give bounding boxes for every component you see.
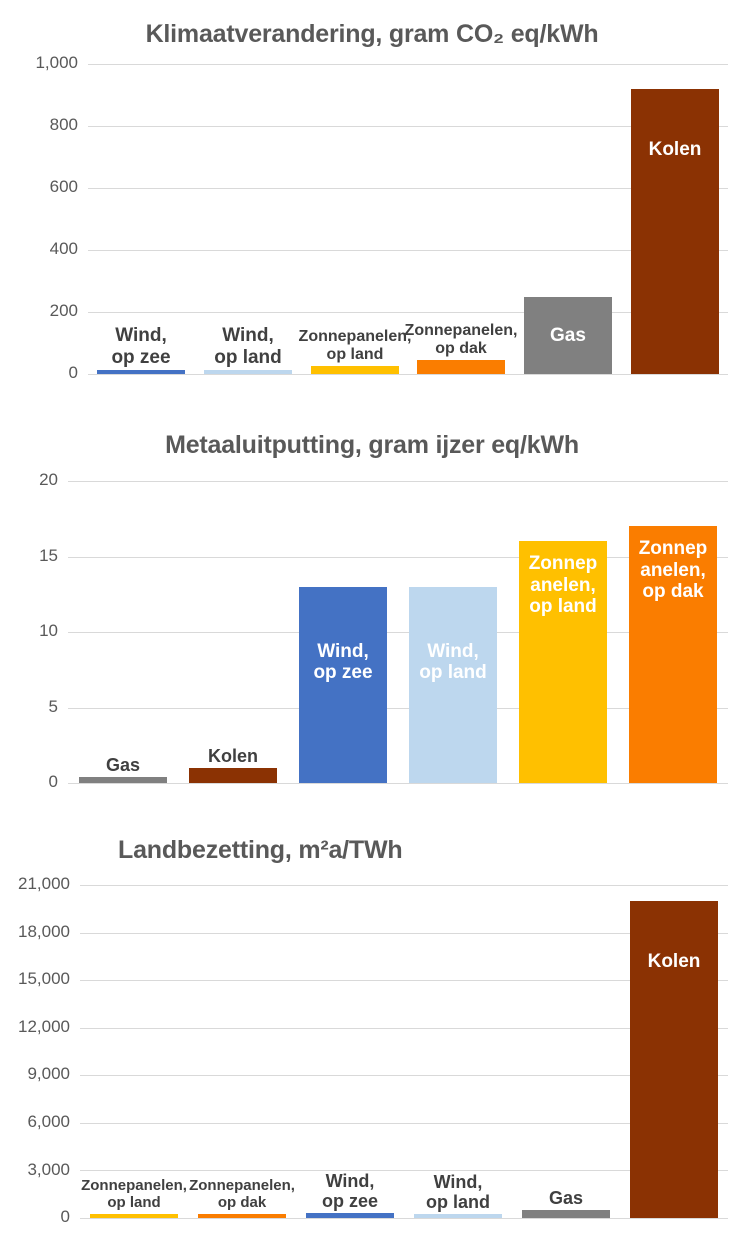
- bar-label-line: op zee: [83, 347, 199, 368]
- y-axis-tick-label: 6,000: [27, 1113, 70, 1130]
- y-axis-tick-label: 20: [39, 471, 58, 488]
- bars-group: GasKolenWind,op zeeWind,op landZonnepane…: [68, 481, 728, 783]
- bar-category-label: Gas: [65, 755, 181, 775]
- y-axis-tick-label: 12,000: [18, 1018, 70, 1035]
- bar-category-label: Gas: [508, 1188, 624, 1208]
- bar-rect: [204, 370, 292, 374]
- bar-label-line: op dak: [184, 1195, 300, 1212]
- bar-label-line: op land: [190, 347, 306, 368]
- y-axis-tick-label: 1,000: [35, 54, 78, 71]
- bar-label-line: Zonnep: [629, 538, 717, 559]
- bar-label-line: Zonnepanelen,: [76, 1178, 192, 1195]
- bar-rect: [90, 1214, 178, 1218]
- y-axis-tick-label: 18,000: [18, 923, 70, 940]
- y-axis-tick-label: 21,000: [18, 875, 70, 892]
- bar-label-line: Wind,: [409, 641, 497, 662]
- y-axis-tick-label: 10: [39, 622, 58, 639]
- bar-item[interactable]: Kolen: [631, 89, 719, 374]
- bar-label-line: op land: [297, 346, 413, 364]
- bar-category-label: Wind,op zee: [83, 325, 199, 368]
- bar-category-label: Gas: [524, 325, 612, 346]
- bar-label-line: anelen,: [519, 575, 607, 596]
- bar-label-line: Wind,: [400, 1172, 516, 1192]
- bar-label-line: Wind,: [292, 1171, 408, 1191]
- bar-rect: [311, 366, 399, 374]
- bar-item[interactable]: Zonnepanelen,op land: [311, 366, 399, 374]
- bar-item[interactable]: Zonnepanelen,op land: [90, 1214, 178, 1218]
- plot-area: Zonnepanelen,op landZonnepanelen,op dakW…: [80, 885, 728, 1218]
- bar-label-line: op land: [400, 1192, 516, 1212]
- bar-rect: [414, 1214, 502, 1218]
- bar-item[interactable]: Zonnepanelen,op dak: [629, 526, 717, 783]
- bar-category-label: Kolen: [175, 746, 291, 766]
- bar-label-line: op land: [409, 662, 497, 683]
- y-axis-tick-label: 0: [69, 364, 78, 381]
- bars-group: Zonnepanelen,op landZonnepanelen,op dakW…: [80, 885, 728, 1218]
- bar-label-line: Wind,: [299, 641, 387, 662]
- bar-rect: [630, 901, 718, 1218]
- plot-area: Wind,op zeeWind,op landZonnepanelen,op l…: [88, 64, 728, 374]
- bar-rect: [522, 1210, 610, 1218]
- bar-category-label: Wind,op zee: [299, 641, 387, 684]
- bar-label-line: Wind,: [190, 325, 306, 346]
- bar-category-label: Wind,op zee: [292, 1171, 408, 1211]
- y-axis-tick-label: 9,000: [27, 1065, 70, 1082]
- chart-metaaluitputting: Metaaluitputting, gram ijzer eq/kWh GasK…: [0, 410, 744, 810]
- bar-category-label: Zonnepanelen,op dak: [629, 538, 717, 602]
- plot-area: GasKolenWind,op zeeWind,op landZonnepane…: [68, 481, 728, 783]
- bar-item[interactable]: Gas: [79, 777, 167, 783]
- y-axis-tick-label: 3,000: [27, 1161, 70, 1178]
- bar-label-line: op land: [76, 1195, 192, 1212]
- bar-item[interactable]: Zonnepanelen,op land: [519, 541, 607, 783]
- bar-category-label: Kolen: [631, 139, 719, 160]
- y-axis-tick-label: 200: [50, 302, 78, 319]
- bar-label-line: op zee: [299, 662, 387, 683]
- bar-category-label: Zonnepanelen,op land: [519, 553, 607, 617]
- bar-item[interactable]: Kolen: [630, 901, 718, 1218]
- bars-group: Wind,op zeeWind,op landZonnepanelen,op l…: [88, 64, 728, 374]
- bar-item[interactable]: Wind,op land: [204, 370, 292, 374]
- bar-rect: [198, 1214, 286, 1218]
- gridline: [68, 783, 728, 784]
- bar-label-line: op dak: [629, 581, 717, 602]
- bar-item[interactable]: Wind,op zee: [97, 370, 185, 374]
- bar-label-line: Wind,: [83, 325, 199, 346]
- bar-item[interactable]: Wind,op land: [409, 587, 497, 783]
- bar-item[interactable]: Kolen: [189, 768, 277, 783]
- chart-landbezetting: Landbezetting, m²a/TWh Zonnepanelen,op l…: [0, 820, 744, 1255]
- bar-rect: [409, 587, 497, 783]
- bar-label-line: Zonnep: [519, 553, 607, 574]
- bar-label-line: Kolen: [175, 746, 291, 766]
- bar-category-label: Wind,op land: [409, 641, 497, 684]
- bar-label-line: Gas: [65, 755, 181, 775]
- y-axis-tick-label: 0: [61, 1208, 70, 1225]
- bar-label-line: op land: [519, 596, 607, 617]
- bar-item[interactable]: Gas: [522, 1210, 610, 1218]
- y-axis-tick-label: 15,000: [18, 970, 70, 987]
- bar-rect: [189, 768, 277, 783]
- bar-item[interactable]: Gas: [524, 297, 612, 375]
- bar-rect: [306, 1213, 394, 1218]
- chart-klimaatverandering: Klimaatverandering, gram CO₂ eq/kWh Wind…: [0, 0, 744, 400]
- bar-item[interactable]: Zonnepanelen,op dak: [417, 360, 505, 374]
- bar-category-label: Wind,op land: [190, 325, 306, 368]
- bar-label-line: Zonnepanelen,: [403, 322, 519, 340]
- y-axis-tick-label: 800: [50, 116, 78, 133]
- bar-label-line: anelen,: [629, 560, 717, 581]
- bar-item[interactable]: Wind,op land: [414, 1214, 502, 1218]
- bar-category-label: Zonnepanelen,op dak: [184, 1178, 300, 1212]
- chart-title: Landbezetting, m²a/TWh: [0, 836, 744, 865]
- chart-title: Metaaluitputting, gram ijzer eq/kWh: [0, 431, 744, 460]
- bar-item[interactable]: Zonnepanelen,op dak: [198, 1214, 286, 1218]
- bar-rect: [299, 587, 387, 783]
- bar-rect: [631, 89, 719, 374]
- y-axis-tick-label: 15: [39, 547, 58, 564]
- gridline: [88, 374, 728, 375]
- bar-rect: [417, 360, 505, 374]
- bar-label-line: Kolen: [630, 951, 718, 972]
- y-axis-tick-label: 400: [50, 240, 78, 257]
- bar-label-line: op dak: [403, 340, 519, 358]
- bar-category-label: Zonnepanelen,op land: [297, 328, 413, 364]
- bar-label-line: Kolen: [631, 139, 719, 160]
- bar-category-label: Zonnepanelen,op land: [76, 1178, 192, 1212]
- y-axis-tick-label: 600: [50, 178, 78, 195]
- bar-label-line: Zonnepanelen,: [184, 1178, 300, 1195]
- bar-category-label: Kolen: [630, 951, 718, 972]
- bar-item[interactable]: Wind,op zee: [299, 587, 387, 783]
- bar-item[interactable]: Wind,op zee: [306, 1213, 394, 1218]
- bar-label-line: Gas: [524, 325, 612, 346]
- bar-rect: [79, 777, 167, 783]
- bar-label-line: op zee: [292, 1191, 408, 1211]
- bar-category-label: Zonnepanelen,op dak: [403, 322, 519, 358]
- bar-label-line: Zonnepanelen,: [297, 328, 413, 346]
- bar-rect: [97, 370, 185, 374]
- y-axis-tick-label: 0: [49, 773, 58, 790]
- y-axis-tick-label: 5: [49, 698, 58, 715]
- chart-title: Klimaatverandering, gram CO₂ eq/kWh: [0, 20, 744, 49]
- bar-category-label: Wind,op land: [400, 1172, 516, 1212]
- gridline: [80, 1218, 728, 1219]
- bar-label-line: Gas: [508, 1188, 624, 1208]
